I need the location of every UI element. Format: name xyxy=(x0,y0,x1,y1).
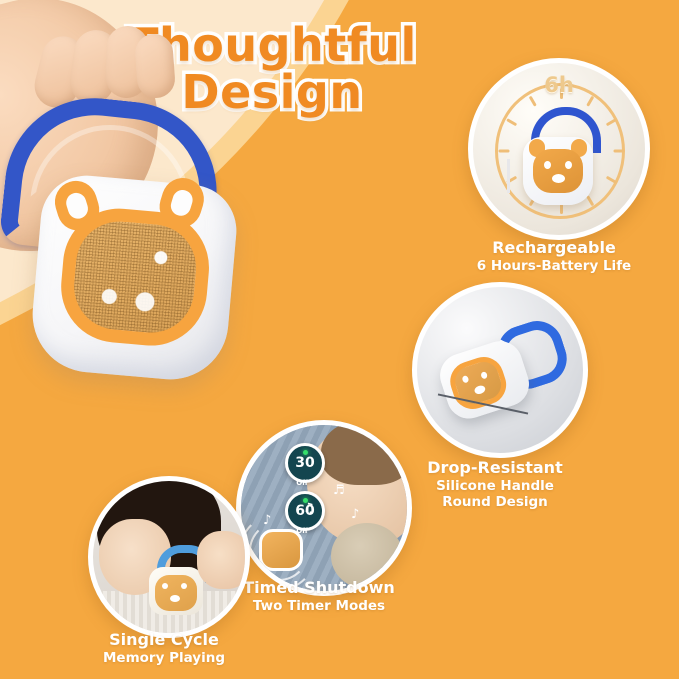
device-body xyxy=(523,137,593,205)
hero-product xyxy=(0,96,300,396)
feature-image-drop-resistant xyxy=(412,282,588,458)
feature-image-rechargeable: 6h xyxy=(468,58,650,240)
speaker-grille xyxy=(445,352,511,414)
feature-heading: Rechargeable xyxy=(468,238,640,258)
caption-drop-resistant: Drop-Resistant Silicone Handle Round Des… xyxy=(406,458,584,510)
music-note-icon: ♬ xyxy=(333,483,345,498)
baby-hair xyxy=(321,420,412,485)
battery-hours-badge: 6h xyxy=(473,73,645,97)
device-body xyxy=(149,567,203,615)
feature-subtext-2: Round Design xyxy=(406,494,584,510)
feature-image-single-cycle xyxy=(88,476,250,638)
feature-heading: Drop-Resistant xyxy=(406,458,584,478)
feature-image-timed-shutdown: 30 Off 60 Off ♪ ♫ ♬ ♪ xyxy=(236,420,412,596)
speaker-grille xyxy=(57,204,214,350)
device-body xyxy=(28,172,240,384)
timer-value: 30 xyxy=(295,455,314,471)
music-note-icon: ♫ xyxy=(303,501,315,516)
timer-off-label: Off xyxy=(285,479,319,487)
music-note-icon: ♪ xyxy=(351,507,359,522)
feature-subtext: Two Timer Modes xyxy=(230,598,408,614)
child-hand xyxy=(197,531,250,589)
feature-subtext: Silicone Handle xyxy=(406,478,584,494)
caption-single-cycle: Single Cycle Memory Playing xyxy=(74,630,254,666)
charging-cable xyxy=(507,159,510,193)
speaker-grille xyxy=(533,149,583,193)
feature-heading: Timed Shutdown xyxy=(230,578,408,598)
infographic-canvas: Thoughtful Design xyxy=(0,0,679,679)
feature-heading: Single Cycle xyxy=(74,630,254,650)
timer-badge-30: 30 xyxy=(285,443,325,483)
device-thumbnail xyxy=(259,529,303,571)
music-note-icon: ♪ xyxy=(263,513,271,528)
led-indicator-icon xyxy=(303,450,308,455)
feature-subtext: Memory Playing xyxy=(74,650,254,666)
feature-subtext: 6 Hours-Battery Life xyxy=(468,258,640,274)
speaker-grille xyxy=(155,575,197,611)
device-thumbnail xyxy=(432,320,560,426)
finger xyxy=(134,33,176,99)
device-thumbnail xyxy=(149,545,203,609)
caption-rechargeable: Rechargeable 6 Hours-Battery Life xyxy=(468,238,640,274)
caption-timed-shutdown: Timed Shutdown Two Timer Modes xyxy=(230,578,408,614)
device-thumbnail xyxy=(521,107,595,207)
